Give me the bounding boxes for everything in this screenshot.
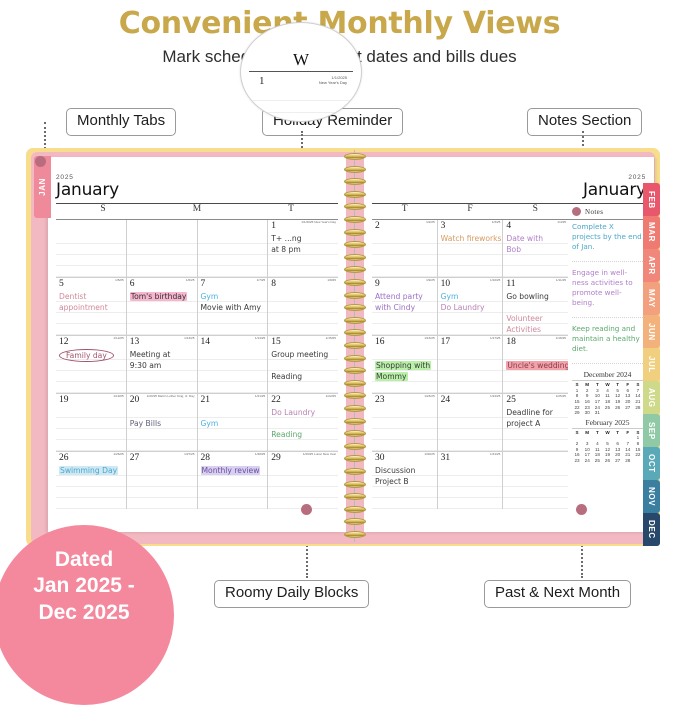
day-entry: Reading: [271, 429, 336, 440]
spiral-coil: [344, 254, 366, 261]
spiral-coil: [344, 279, 366, 286]
day-entry-text: Reading: [271, 372, 302, 381]
day-entry-text: Shopping with: [375, 361, 431, 370]
day-cell[interactable]: 41/4/25Date withBob: [503, 220, 568, 277]
day-cell[interactable]: [198, 220, 269, 277]
spiral-coil: [344, 481, 366, 488]
day-entry-text: Attend party: [375, 292, 423, 301]
spiral-coil: [344, 216, 366, 223]
day-entry-text: Date with: [506, 234, 543, 243]
day-cell[interactable]: 101/10/25GymDo Laundry: [438, 278, 504, 335]
spiral-coil: [344, 191, 366, 198]
day-entries: Date withBob: [506, 233, 566, 255]
month-tab-jun-label: JUN: [647, 323, 656, 341]
day-entry: Group meeting: [271, 349, 336, 360]
day-entries: Monthly review: [201, 465, 266, 476]
day-entry: with Cindy: [375, 302, 435, 313]
spiral-coil: [344, 166, 366, 173]
day-entry: Tom's birthday: [130, 291, 195, 302]
day-entry-text: Do Laundry: [441, 303, 485, 312]
spiral-coil: [344, 367, 366, 374]
day-cell[interactable]: 251/25/25Deadline forproject A: [503, 394, 568, 451]
day-entries: Go bowling VolunteerActivities: [506, 291, 566, 335]
day-cell-rule-lines: [56, 407, 126, 451]
mini-calendar[interactable]: December 2024SMTWTFS12345678910111213141…: [572, 370, 643, 416]
day-entry-text: Watch fireworks: [441, 234, 502, 243]
month-tab-jun[interactable]: JUN: [643, 315, 660, 348]
month-tab-jan-label: JAN: [38, 178, 47, 196]
spiral-coil: [344, 292, 366, 299]
day-cell[interactable]: 131/13/25Meeting at9:30 am: [127, 336, 198, 393]
holiday-note: 1/2/25: [426, 221, 435, 225]
mini-day[interactable]: 30: [582, 410, 592, 416]
day-entry-text: Group meeting: [271, 350, 328, 359]
day-entries: Attend partywith Cindy: [375, 291, 435, 313]
day-entry: Do Laundry: [441, 302, 501, 313]
spiral-binding: [344, 150, 366, 542]
day-entry-text: Gym: [201, 292, 219, 301]
day-entry-text: Reading: [271, 430, 302, 439]
day-entries: Gym: [201, 407, 266, 429]
day-entry: at 8 pm: [271, 244, 336, 255]
mini-day[interactable]: 31: [592, 410, 602, 416]
dow-label-m-1: M: [150, 204, 244, 219]
day-entry-text: Dentist: [59, 292, 86, 301]
holiday-note: 1/11/25: [556, 279, 566, 283]
calendar-grid-left[interactable]: 11/1/2025 New Year's DayT+ ...ngat 8 pm5…: [56, 220, 338, 509]
day-entry: T+ ...ng: [271, 233, 336, 244]
day-entry-text: Movie with Amy: [201, 303, 262, 312]
badge-line-1: Dated: [55, 547, 113, 573]
day-entry: Bob: [506, 244, 566, 255]
day-entry: Attend party: [375, 291, 435, 302]
day-number: 4: [506, 221, 511, 231]
day-number: 8: [271, 279, 276, 289]
day-cell[interactable]: 81/8/25: [268, 278, 338, 335]
day-cell[interactable]: 91/9/25Attend partywith Cindy: [372, 278, 438, 335]
day-entries: Group meeting Reading: [271, 349, 336, 382]
day-entry: Movie with Amy: [201, 302, 266, 313]
note-entry[interactable]: Complete X projects by the end of Jan.: [572, 222, 643, 252]
day-entries: Deadline forproject A: [506, 407, 566, 429]
day-cell[interactable]: 291/29/25 Lunar New Year: [268, 452, 338, 509]
badge-line-3: Dec 2025: [38, 600, 129, 626]
mini-calendar[interactable]: February 2025SMTWTFS12345678910111213141…: [572, 418, 643, 464]
day-cell-rule-lines: [503, 465, 568, 509]
day-number: 12: [59, 337, 69, 347]
day-number: 6: [130, 279, 135, 289]
holiday-note: 1/31/25: [490, 453, 500, 457]
day-number: 5: [59, 279, 64, 289]
day-entry: Family day: [59, 349, 124, 362]
month-tab-sep[interactable]: SEP: [643, 414, 660, 447]
day-cell-rule-lines: [127, 465, 197, 509]
spiral-coil: [344, 304, 366, 311]
day-entry-text: T+ ...ng: [271, 234, 301, 243]
day-cell-rule-lines: [372, 407, 437, 451]
day-number: 19: [59, 395, 69, 405]
day-entry: Go bowling: [506, 291, 566, 302]
day-entry-text: with Cindy: [375, 303, 415, 312]
day-number: 15: [271, 337, 281, 347]
calendar-week-row: 121/12/25Family day131/13/25Meeting at9:…: [56, 336, 338, 394]
page-left: 2025 January SMT 11/1/2025 New Year's Da…: [48, 157, 346, 532]
day-cell-rule-lines: [438, 465, 503, 509]
page-right-heading: 2025 January: [372, 166, 646, 200]
planner-book: JAN 2025 January SMT 11/1/2025 New Year'…: [26, 148, 660, 546]
dow-label-t-0: T: [372, 204, 437, 219]
note-separator: [572, 261, 643, 262]
day-entries: Uncle's wedding: [506, 349, 566, 371]
day-cell[interactable]: 221/22/25Do Laundry Reading: [268, 394, 338, 451]
mini-day[interactable]: 23: [572, 458, 582, 464]
day-entries: Pay Bills: [130, 407, 195, 429]
day-cell[interactable]: 61/6/25Tom's birthday: [127, 278, 198, 335]
spiral-coil: [344, 329, 366, 336]
holiday-note: 1/17/25: [490, 337, 500, 341]
day-entries: Swimming Day: [59, 465, 124, 476]
calendar-grid-right[interactable]: 21/2/2531/3/25Watch fireworks41/4/25Date…: [372, 220, 568, 509]
holiday-note: 1/6/25: [186, 279, 195, 283]
note-entry[interactable]: Keep reading and maintain a healthy diet…: [572, 324, 643, 354]
anchor-dot-roomy: [301, 504, 312, 515]
spiral-coil: [344, 531, 366, 538]
spiral-coil: [344, 418, 366, 425]
day-number: 30: [375, 453, 385, 463]
spiral-coil: [344, 355, 366, 362]
day-entry-text: Swimming Day: [59, 466, 118, 475]
day-entry: [375, 349, 435, 360]
day-entry-text: Mommy: [375, 372, 408, 381]
day-number: 25: [506, 395, 516, 405]
holiday-note: 1/23/25: [424, 395, 434, 399]
day-entries: Family day: [59, 349, 124, 362]
day-entry: Watch fireworks: [441, 233, 501, 244]
spiral-coil: [344, 203, 366, 210]
holiday-note: 1/15/25: [326, 337, 336, 341]
day-number: 2: [375, 221, 380, 231]
spiral-coil: [344, 518, 366, 525]
day-cell[interactable]: 211/21/25 Gym: [198, 394, 269, 451]
day-cell[interactable]: 21/2/25: [372, 220, 438, 277]
day-number: 20: [130, 395, 140, 405]
day-cell-rule-lines: [268, 291, 338, 335]
spiral-coil: [344, 266, 366, 273]
magnifier-dow: W: [241, 50, 361, 70]
mini-day[interactable]: 29: [572, 410, 582, 416]
page-left-heading: 2025 January: [56, 166, 338, 200]
dow-label-s-0: S: [56, 204, 150, 219]
day-entry-text: Uncle's wedding: [506, 361, 568, 370]
month-tab-aug-label: AUG: [647, 388, 656, 408]
spiral-coil: [344, 430, 366, 437]
day-entry-text: Project B: [375, 477, 409, 486]
day-entry: Activities: [506, 324, 566, 335]
magnifier-holiday-line: New Year's Day: [319, 80, 347, 85]
dow-label-s-2: S: [503, 204, 568, 219]
holiday-note: 1/19/25: [113, 395, 123, 399]
spiral-coil: [344, 493, 366, 500]
notes-label: Notes: [585, 208, 603, 216]
note-separator: [572, 363, 643, 364]
mini-day[interactable]: 28: [623, 458, 633, 464]
month-tab-may[interactable]: MAY: [643, 282, 660, 315]
spiral-coil: [344, 455, 366, 462]
mini-day[interactable]: 27: [613, 458, 623, 464]
day-entry: project A: [506, 418, 566, 429]
day-entry: Deadline for: [506, 407, 566, 418]
calendar-week-row: 21/2/2531/3/25Watch fireworks41/4/25Date…: [372, 220, 568, 278]
day-entry-text: Bob: [506, 245, 521, 254]
day-entries: T+ ...ngat 8 pm: [271, 233, 336, 255]
day-entry: Volunteer: [506, 313, 566, 324]
spiral-coil: [344, 468, 366, 475]
holiday-note: 1/1/2025 New Year's Day: [301, 221, 336, 225]
calendar-week-row: 161/16/25 Shopping withMommy171/17/25181…: [372, 336, 568, 394]
day-entries: GymDo Laundry: [441, 291, 501, 313]
day-entry: [506, 349, 566, 360]
day-cell[interactable]: 71/7/25GymMovie with Amy: [198, 278, 269, 335]
day-cell[interactable]: 161/16/25 Shopping withMommy: [372, 336, 438, 393]
holiday-note: 1/26/25: [113, 453, 123, 457]
holiday-note: 1/27/25: [184, 453, 194, 457]
day-cell-rule-lines: [198, 349, 268, 393]
mini-day[interactable]: [623, 410, 633, 416]
holiday-note: 1/13/25: [184, 337, 194, 341]
day-entries: Watch fireworks: [441, 233, 501, 244]
day-number: 26: [59, 453, 69, 463]
day-number: 29: [271, 453, 281, 463]
callout-notes-section: Notes Section: [527, 108, 642, 136]
month-tab-oct[interactable]: OCT: [643, 447, 660, 480]
mini-day[interactable]: [602, 410, 612, 416]
day-entry-text: Discussion: [375, 466, 415, 475]
day-entry: [130, 407, 195, 418]
day-number: 28: [201, 453, 211, 463]
day-entry: [271, 360, 336, 371]
holiday-note: 1/10/25: [490, 279, 500, 283]
holiday-note: 1/28/25: [255, 453, 265, 457]
note-separator: [572, 317, 643, 318]
calendar-week-row: 301/30/25DiscussionProject B311/31/25: [372, 452, 568, 509]
holiday-note: 1/7/25: [257, 279, 266, 283]
day-entry: [506, 302, 566, 313]
day-number: 31: [441, 453, 451, 463]
day-cell[interactable]: [503, 452, 568, 509]
day-number: 10: [441, 279, 451, 289]
calendar-week-row: 231/23/25241/24/25251/25/25Deadline forp…: [372, 394, 568, 452]
month-tab-mar-label: MAR: [647, 222, 656, 242]
holiday-note: 1/14/25: [255, 337, 265, 341]
day-entries: Shopping withMommy: [375, 349, 435, 382]
day-number: 9: [375, 279, 380, 289]
day-cell-rule-lines: [127, 233, 197, 277]
day-cell[interactable]: 191/19/25: [56, 394, 127, 451]
day-entry: [271, 418, 336, 429]
day-entry: Shopping with: [375, 360, 435, 371]
anchor-dot-pastnext: [576, 504, 587, 515]
day-cell[interactable]: [127, 220, 198, 277]
mini-day[interactable]: 24: [582, 458, 592, 464]
calendar-week-row: 91/9/25Attend partywith Cindy101/10/25Gy…: [372, 278, 568, 336]
spiral-coil: [344, 229, 366, 236]
page-right: 2025 January TFSNotes 21/2/2531/3/25Watc…: [364, 157, 654, 532]
day-entry: Date with: [506, 233, 566, 244]
holiday-note: 1/29/25 Lunar New Year: [303, 453, 336, 457]
day-cell[interactable]: 271/27/25: [127, 452, 198, 509]
day-cell[interactable]: 51/5/25Dentistappointment: [56, 278, 127, 335]
day-entry: [201, 407, 266, 418]
day-cell[interactable]: 111/11/25Go bowling VolunteerActivities: [503, 278, 568, 335]
spiral-coil: [344, 342, 366, 349]
day-number: 18: [506, 337, 516, 347]
calendar-week-row: 191/19/25201/20/25 Martin Luther King, J…: [56, 394, 338, 452]
month-tab-mar[interactable]: MAR: [643, 216, 660, 249]
day-entry-text: project A: [506, 419, 540, 428]
day-cell[interactable]: 311/31/25: [438, 452, 504, 509]
dow-row-left: SMT: [56, 204, 338, 219]
day-entry: appointment: [59, 302, 124, 313]
day-number: 27: [130, 453, 140, 463]
day-cell-rule-lines: [268, 465, 338, 509]
day-entry: Gym: [201, 291, 266, 302]
day-entry-text: Do Laundry: [271, 408, 315, 417]
day-number: 17: [441, 337, 451, 347]
spiral-coil: [344, 241, 366, 248]
notes-section[interactable]: Complete X projects by the end of Jan.En…: [568, 220, 646, 509]
mini-day[interactable]: 25: [592, 458, 602, 464]
day-number: 21: [201, 395, 211, 405]
calendar-week-row: 261/26/25Swimming Day271/27/25281/28/25M…: [56, 452, 338, 509]
badge-line-2: Jan 2025 -: [33, 573, 135, 599]
day-number: 3: [441, 221, 446, 231]
day-number: 7: [201, 279, 206, 289]
day-cell[interactable]: 201/20/25 Martin Luther King, Jr. Day Pa…: [127, 394, 198, 451]
day-cell-rule-lines: [372, 233, 437, 277]
month-tab-apr[interactable]: APR: [643, 249, 660, 282]
day-entry: Meeting at: [130, 349, 195, 360]
day-cell[interactable]: 11/1/2025 New Year's DayT+ ...ngat 8 pm: [268, 220, 338, 277]
day-entry: Gym: [441, 291, 501, 302]
day-entry-text: appointment: [59, 303, 108, 312]
mini-day[interactable]: [633, 410, 643, 416]
month-tab-aug[interactable]: AUG: [643, 381, 660, 414]
day-cell[interactable]: 281/28/25Monthly review: [198, 452, 269, 509]
holiday-note: 1/3/25: [492, 221, 501, 225]
dated-range-badge: Dated Jan 2025 - Dec 2025: [0, 525, 174, 705]
day-cell[interactable]: 241/24/25: [438, 394, 504, 451]
day-cell[interactable]: 141/14/25: [198, 336, 269, 393]
day-cell[interactable]: 31/3/25Watch fireworks: [438, 220, 504, 277]
day-cell[interactable]: 181/18/25 Uncle's wedding: [503, 336, 568, 393]
day-entry-text: Activities: [506, 325, 541, 334]
mini-calendar-title: December 2024: [572, 370, 643, 381]
holiday-note: 1/16/25: [424, 337, 434, 341]
day-number: 1: [271, 221, 276, 231]
spiral-coil: [344, 392, 366, 399]
calendar-week-row: 51/5/25Dentistappointment61/6/25Tom's bi…: [56, 278, 338, 336]
holiday-note: 1/9/25: [426, 279, 435, 283]
day-entry: Pay Bills: [130, 418, 195, 429]
day-cell[interactable]: [56, 220, 127, 277]
mini-day[interactable]: 26: [602, 458, 612, 464]
day-entry-text: Gym: [201, 419, 219, 428]
month-tab-jul[interactable]: JUL: [643, 348, 660, 381]
month-tab-feb-label: FEB: [647, 191, 656, 209]
day-entry: Gym: [201, 418, 266, 429]
callout-roomy-daily-blocks: Roomy Daily Blocks: [214, 580, 369, 608]
holiday-note: 1/30/25: [424, 453, 434, 457]
day-cell-rule-lines: [438, 407, 503, 451]
day-entry-text: Deadline for: [506, 408, 553, 417]
callout-monthly-tabs: Monthly Tabs: [66, 108, 176, 136]
holiday-reminder-magnifier: W 1 1/1/2025New Year's Day: [240, 22, 362, 122]
dow-label-t-2: T: [244, 204, 338, 219]
day-entry-text: at 8 pm: [271, 245, 301, 254]
day-entry: Project B: [375, 476, 435, 487]
day-number: 24: [441, 395, 451, 405]
note-entry[interactable]: Engage in well-ness activities to promot…: [572, 268, 643, 308]
month-tab-nov-label: NOV: [647, 487, 656, 506]
calendar-week-row: 11/1/2025 New Year's DayT+ ...ngat 8 pm: [56, 220, 338, 278]
day-entry-text: Meeting at: [130, 350, 171, 359]
day-entries: DiscussionProject B: [375, 465, 435, 487]
month-tab-oct-label: OCT: [647, 454, 656, 473]
magnifier-rule-lines: [249, 89, 353, 122]
month-tab-nov[interactable]: NOV: [643, 480, 660, 513]
day-entry-text: Monthly review: [201, 466, 261, 475]
day-entry: Uncle's wedding: [506, 360, 566, 371]
day-cell[interactable]: 261/26/25Swimming Day: [56, 452, 127, 509]
spiral-coil: [344, 178, 366, 185]
spiral-coil: [344, 405, 366, 412]
day-entry-text: Tom's birthday: [130, 292, 188, 301]
day-entry: 9:30 am: [130, 360, 195, 371]
mini-day[interactable]: [613, 410, 623, 416]
month-tab-jul-label: JUL: [647, 356, 656, 373]
day-entry: Do Laundry: [271, 407, 336, 418]
day-number: 23: [375, 395, 385, 405]
spiral-coil: [344, 380, 366, 387]
spiral-coil: [344, 317, 366, 324]
day-number: 22: [271, 395, 281, 405]
day-cell[interactable]: 231/23/25: [372, 394, 438, 451]
magnifier-day-number: 1: [259, 75, 265, 87]
month-tab-dec[interactable]: DEC: [643, 513, 660, 546]
notes-bullet-icon: [572, 207, 581, 216]
day-number: 11: [506, 279, 515, 289]
day-cell[interactable]: 171/17/25: [438, 336, 504, 393]
mini-day[interactable]: [633, 458, 643, 464]
day-number: 14: [201, 337, 211, 347]
day-entry: Discussion: [375, 465, 435, 476]
day-cell-rule-lines: [56, 233, 126, 277]
holiday-note: 1/21/25: [255, 395, 265, 399]
month-label-right: January: [583, 180, 646, 200]
month-tab-feb[interactable]: FEB: [643, 183, 660, 216]
day-cell[interactable]: 121/12/25Family day: [56, 336, 127, 393]
day-cell[interactable]: 151/15/25Group meeting Reading: [268, 336, 338, 393]
day-entry-text: 9:30 am: [130, 361, 162, 370]
day-cell[interactable]: 301/30/25DiscussionProject B: [372, 452, 438, 509]
magnifier-holiday-text: 1/1/2025New Year's Day: [319, 75, 347, 85]
day-entry-text: Volunteer: [506, 314, 542, 323]
holiday-note: 1/5/25: [115, 279, 124, 283]
mini-calendar-title: February 2025: [572, 418, 643, 429]
day-entries: GymMovie with Amy: [201, 291, 266, 313]
day-entry: Monthly review: [201, 465, 266, 476]
day-number: 16: [375, 337, 385, 347]
